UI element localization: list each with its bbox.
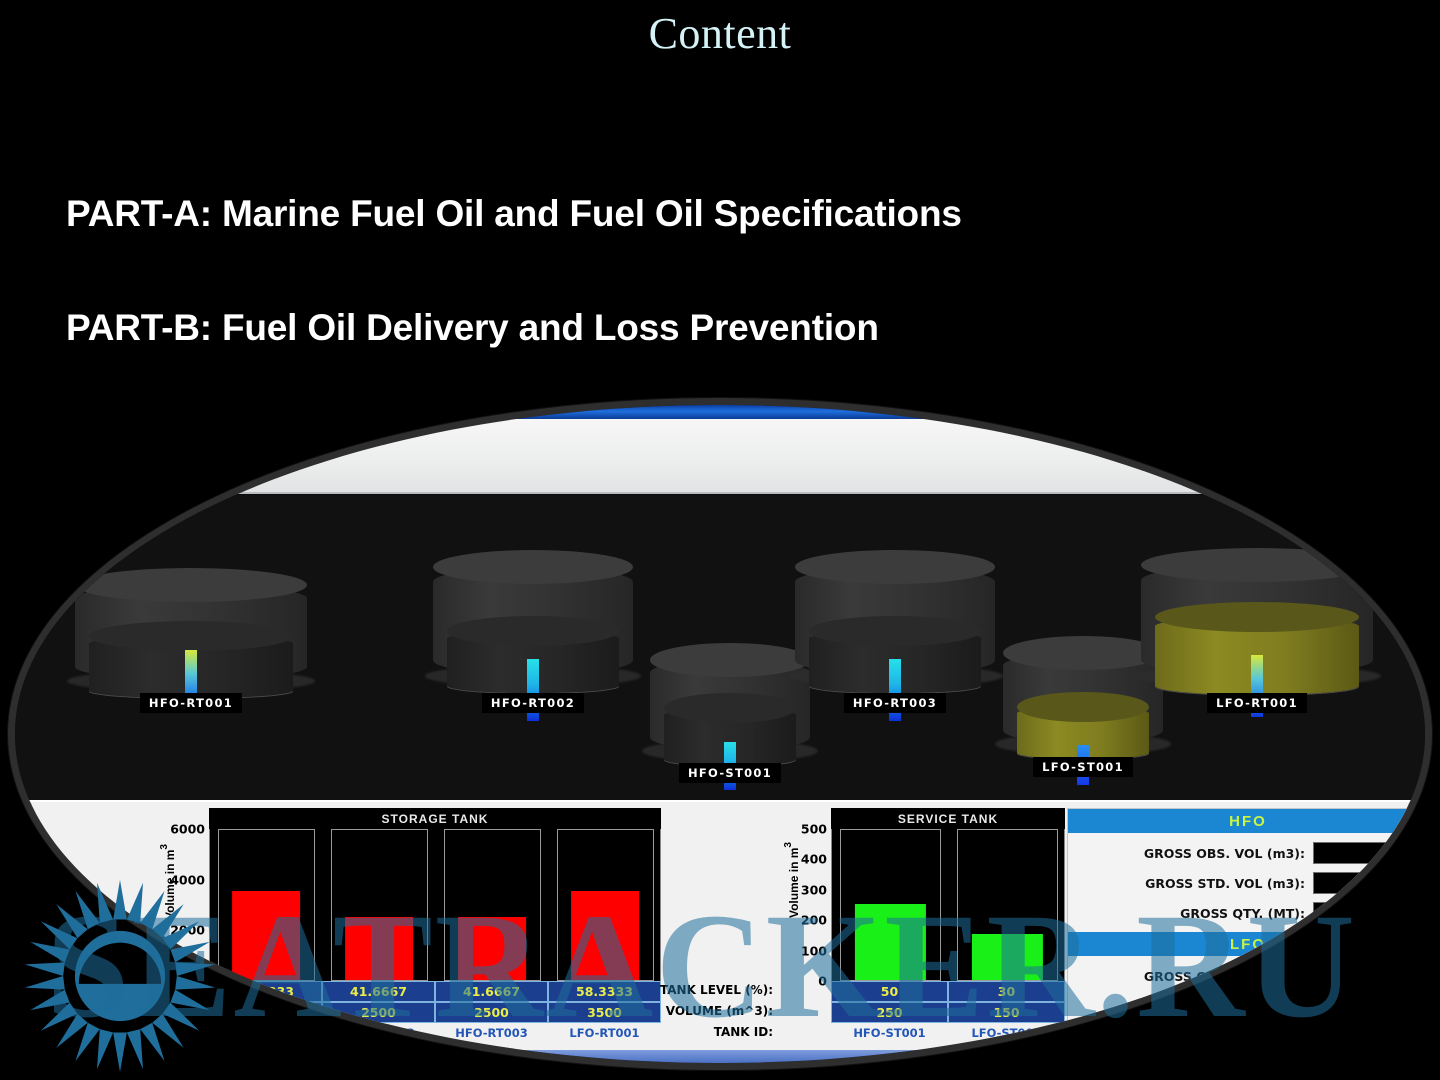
tank-contents-top xyxy=(1155,602,1359,632)
tank-id-cell: HFO-ST001 xyxy=(831,1023,948,1043)
value-cell: 150 xyxy=(948,1002,1065,1023)
readout-label: GROSS QTY. (MT): xyxy=(1068,906,1313,921)
service-y-axis-title: Volume in m3 xyxy=(783,842,801,918)
tank-shell-top xyxy=(1141,548,1373,582)
storage-tank-chart: STORAGE TANK 58.333341.666741.666758.333… xyxy=(149,808,661,981)
y-tick-label: 6000 xyxy=(170,822,205,837)
readout-section-header-lfo: LFO xyxy=(1068,932,1428,956)
service-tank-chart: SERVICE TANK 5030250150HFO-ST001LFO-ST00… xyxy=(775,808,1065,981)
value-row: 58.333341.666741.666758.3333 xyxy=(209,981,661,1002)
page-title: Content xyxy=(0,8,1440,59)
readout-row: GROSS STD. VOL (m3): xyxy=(1068,870,1422,896)
row-label-tank-id: TANK ID: xyxy=(645,1025,773,1039)
value-cell: 250 xyxy=(831,1002,948,1023)
y-axis-label-exponent: 3 xyxy=(783,842,794,848)
bar-slot xyxy=(957,829,1058,981)
bar-hfo-st001 xyxy=(855,904,925,980)
readout-row: GROSS OBS. VOL (m3): xyxy=(1068,963,1422,989)
tank-shell-top xyxy=(795,550,995,584)
storage-chart-title: STORAGE TANK xyxy=(209,808,661,829)
readout-value-field[interactable] xyxy=(1313,872,1422,894)
bar-hfo-rt001 xyxy=(233,891,301,980)
readout-label: GROSS STD. VOL (m3): xyxy=(1068,876,1313,891)
tank-contents-top xyxy=(89,621,293,651)
tank-id-row: HFO-ST001LFO-ST001 xyxy=(831,1023,1065,1043)
value-cell: 41.6667 xyxy=(435,981,548,1002)
tank-contents-top xyxy=(664,693,796,723)
tank-id-cell: HFO-RT001 xyxy=(209,1023,322,1043)
y-tick-label: 100 xyxy=(801,943,827,958)
readout-value-field[interactable] xyxy=(1313,965,1422,987)
y-tick-label: 500 xyxy=(801,822,827,837)
storage-value-table: 58.333341.666741.666758.3333350025002500… xyxy=(209,981,661,1043)
gross-quantity-readout: HFOGROSS OBS. VOL (m3):GROSS STD. VOL (m… xyxy=(1067,808,1429,1046)
readout-value-field[interactable] xyxy=(1313,902,1422,924)
storage-y-axis: 0200040006000 xyxy=(149,829,209,981)
bar-slot xyxy=(557,829,654,981)
tank-hfo-rt002[interactable]: HFO-RT002 xyxy=(433,567,633,755)
tank-id-label: HFO-RT003 xyxy=(844,693,946,713)
bar-lfo-st001 xyxy=(972,934,1042,980)
bullet-part-a: PART-A: Marine Fuel Oil and Fuel Oil Spe… xyxy=(66,193,962,235)
readout-row: GROSS QTY. (MT): xyxy=(1068,1023,1422,1049)
value-cell: 2500 xyxy=(322,1002,435,1023)
bar-slot xyxy=(218,829,315,981)
readout-value-field[interactable] xyxy=(1313,995,1422,1017)
value-cell: 3500 xyxy=(209,1002,322,1023)
hmi-screenshot-oval: HFO-RT001HFO-RT002HFO-ST001HFO-RT003LFO-… xyxy=(8,398,1432,1070)
value-cell: 50 xyxy=(831,981,948,1002)
readout-value-field[interactable] xyxy=(1313,1025,1422,1047)
readout-section-body: GROSS OBS. VOL (m3):GROSS STD. VOL (m3):… xyxy=(1068,833,1428,932)
tank-id-row: HFO-RT001HFO-RT002HFO-RT003LFO-RT001 xyxy=(209,1023,661,1043)
bar-lfo-rt001 xyxy=(572,891,640,980)
readout-label: GROSS OBS. VOL (m3): xyxy=(1068,846,1313,861)
readout-label: GROSS QTY. (MT): xyxy=(1068,1029,1313,1044)
tank-contents-top xyxy=(809,616,981,646)
y-axis-label-text: Volume in m xyxy=(787,848,801,918)
y-tick-label: 300 xyxy=(801,882,827,897)
tank-id-cell: LFO-ST001 xyxy=(948,1023,1065,1043)
readout-label: GROSS STD. VOL (m3): xyxy=(1068,999,1313,1014)
readout-section-header-hfo: HFO xyxy=(1068,809,1428,833)
y-tick-label: 0 xyxy=(818,974,827,989)
readout-label: GROSS OBS. VOL (m3): xyxy=(1068,969,1313,984)
readout-row: GROSS OBS. VOL (m3): xyxy=(1068,840,1422,866)
readout-value-field[interactable] xyxy=(1313,842,1422,864)
value-row: 5030 xyxy=(831,981,1065,1002)
tank-shell-top xyxy=(1003,636,1163,670)
y-axis-label-text: Volume in m xyxy=(163,850,177,920)
tank-id-label: HFO-RT002 xyxy=(482,693,584,713)
y-axis-label-exponent: 3 xyxy=(159,844,170,850)
tank-farm-view: HFO-RT001HFO-RT002HFO-ST001HFO-RT003LFO-… xyxy=(15,495,1432,800)
tank-id-label: HFO-ST001 xyxy=(679,763,781,783)
value-row: 250150 xyxy=(831,1002,1065,1023)
tank-shell-top xyxy=(75,568,307,602)
readout-row: GROSS STD. VOL (m3): xyxy=(1068,993,1422,1019)
y-tick-label: 200 xyxy=(801,913,827,928)
hmi-application: HFO-RT001HFO-RT002HFO-ST001HFO-RT003LFO-… xyxy=(15,405,1432,1070)
readout-row: GROSS QTY. (MT): xyxy=(1068,900,1422,926)
bullet-part-b: PART-B: Fuel Oil Delivery and Loss Preve… xyxy=(66,307,879,349)
value-cell: 41.6667 xyxy=(322,981,435,1002)
storage-plot-area xyxy=(209,829,661,981)
service-chart-title: SERVICE TANK xyxy=(831,808,1065,829)
bar-slot xyxy=(444,829,541,981)
tank-contents-top xyxy=(447,616,619,646)
y-tick-label: 400 xyxy=(801,852,827,867)
tank-contents-top xyxy=(1017,692,1149,722)
service-plot-area xyxy=(831,829,1065,981)
service-value-table: 5030250150HFO-ST001LFO-ST001 xyxy=(831,981,1065,1043)
value-cell: 2500 xyxy=(435,1002,548,1023)
tank-id-cell: HFO-RT002 xyxy=(322,1023,435,1043)
slide-canvas: Content PART-A: Marine Fuel Oil and Fuel… xyxy=(0,0,1440,1080)
tank-id-cell: HFO-RT003 xyxy=(435,1023,548,1043)
window-menubar xyxy=(25,419,1429,494)
tank-hfo-rt001[interactable]: HFO-RT001 xyxy=(75,585,307,760)
row-label-tank-level: TANK LEVEL (%): xyxy=(645,983,773,997)
bar-hfo-rt003 xyxy=(459,917,527,980)
window-status-bar xyxy=(25,1050,1429,1070)
bar-slot xyxy=(840,829,941,981)
readout-section-body: GROSS OBS. VOL (m3):GROSS STD. VOL (m3):… xyxy=(1068,956,1428,1055)
tank-id-label: LFO-RT001 xyxy=(1207,693,1307,713)
charts-panel: STORAGE TANK 58.333341.666741.666758.333… xyxy=(25,800,1429,1050)
tank-lfo-rt001[interactable]: LFO-RT001 xyxy=(1141,565,1373,755)
y-tick-label: 0 xyxy=(196,974,205,989)
tank-hfo-rt003[interactable]: HFO-RT003 xyxy=(795,567,995,755)
storage-y-axis-title: Volume in m3 xyxy=(159,844,177,920)
tank-shell-top xyxy=(650,643,810,677)
value-row: 3500250025003500 xyxy=(209,1002,661,1023)
oval-frame: HFO-RT001HFO-RT002HFO-ST001HFO-RT003LFO-… xyxy=(8,398,1432,1070)
value-cell: 58.3333 xyxy=(209,981,322,1002)
bar-slot xyxy=(331,829,428,981)
tank-id-label: HFO-RT001 xyxy=(140,693,242,713)
window-titlebar xyxy=(275,405,1180,419)
value-cell: 30 xyxy=(948,981,1065,1002)
y-tick-label: 2000 xyxy=(170,923,205,938)
row-label-volume: VOLUME (m^3): xyxy=(645,1004,773,1018)
tank-id-label: LFO-ST001 xyxy=(1033,757,1133,777)
bar-hfo-rt002 xyxy=(346,917,414,980)
tank-shell-top xyxy=(433,550,633,584)
